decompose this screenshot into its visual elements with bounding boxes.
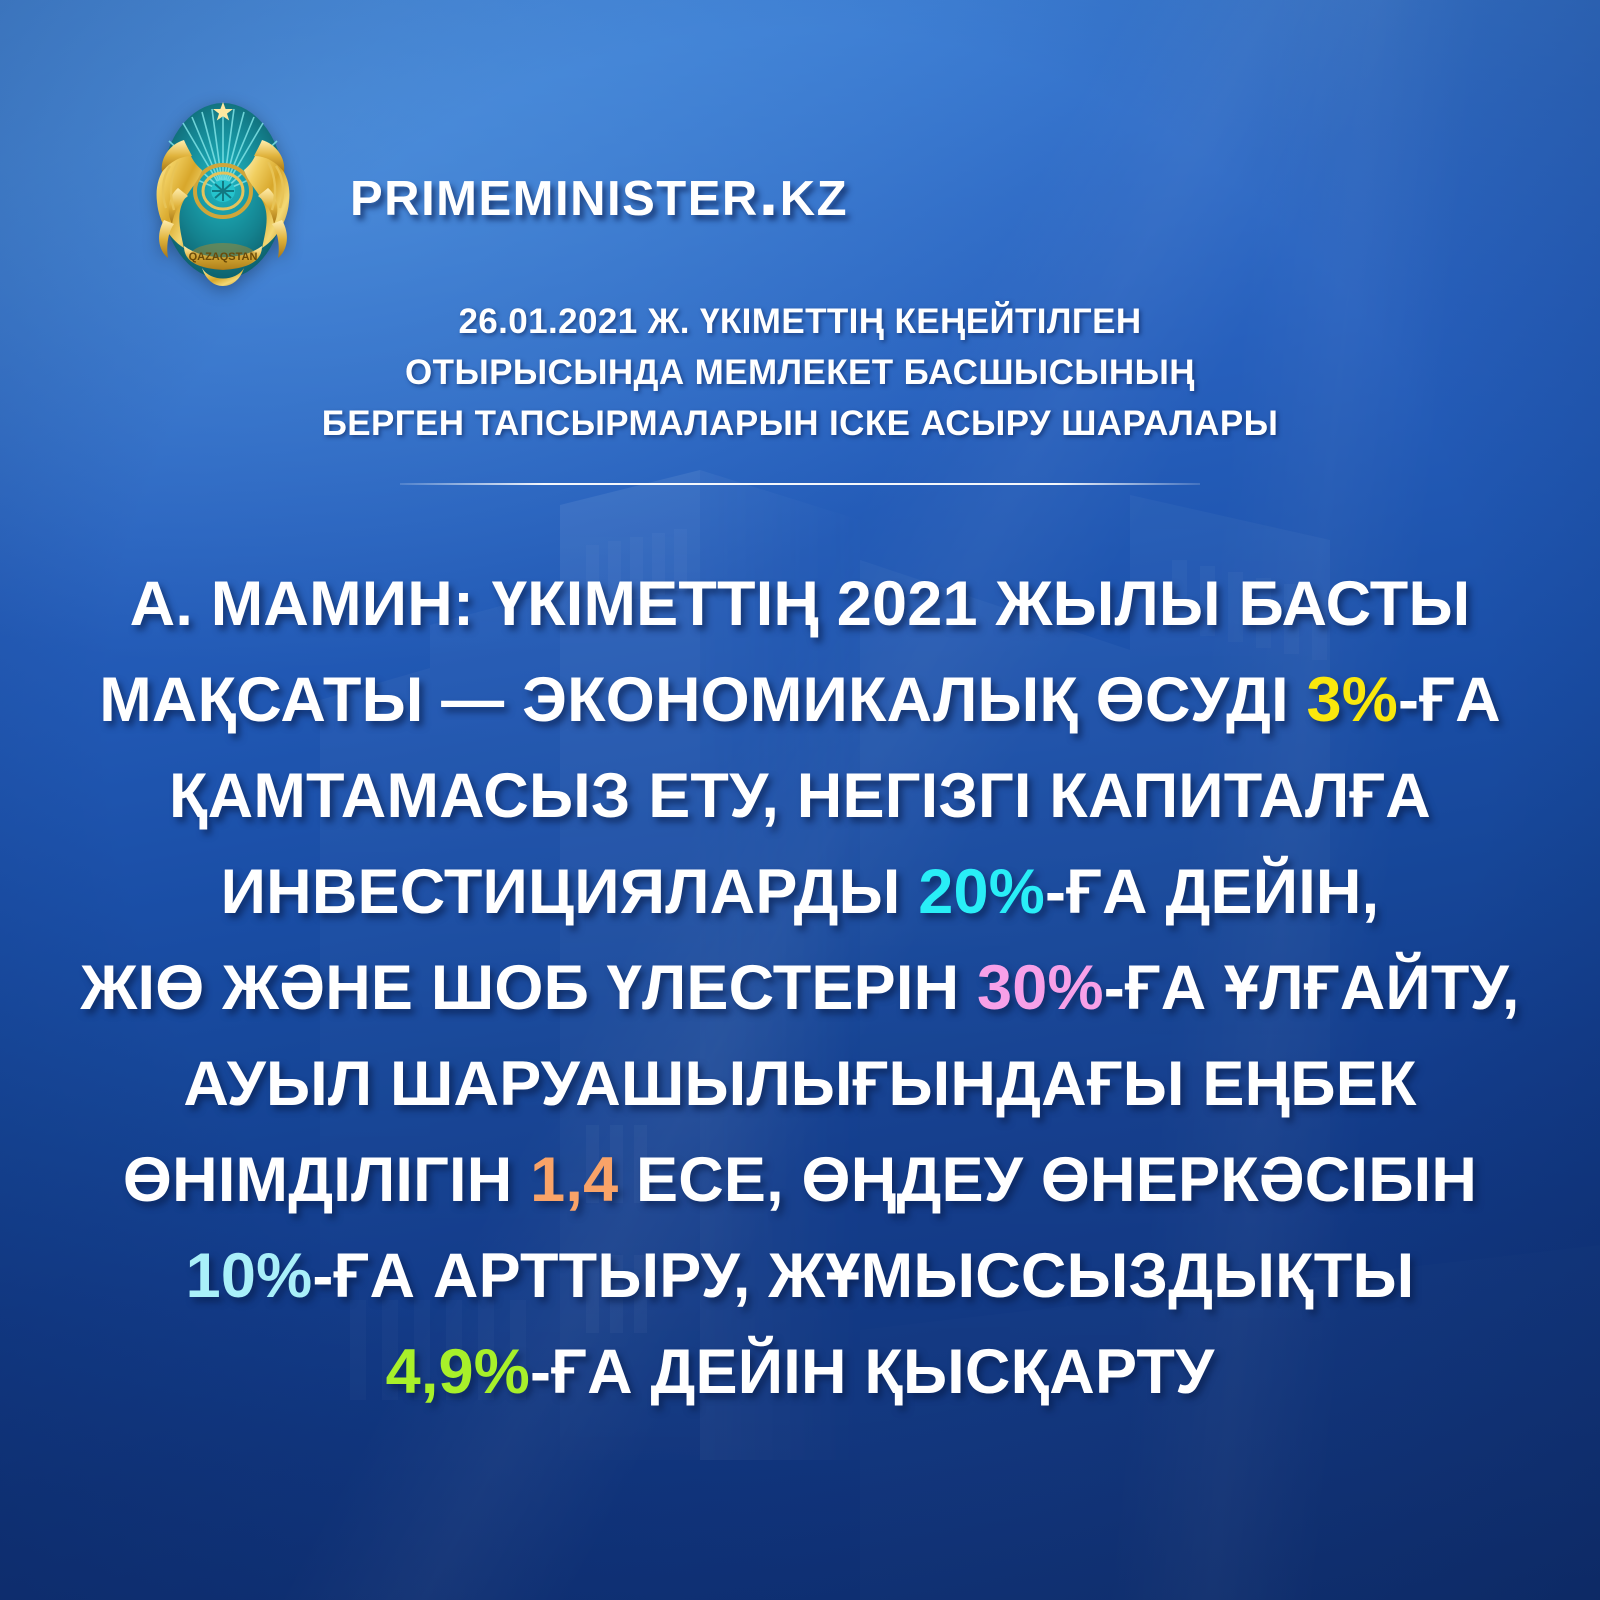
emblem-motto-text: QAZAQSTAN [189,251,258,263]
headline-line-4-prefix: ИНВЕСТИЦИЯЛАРДЫ [221,857,919,927]
subtitle-line-1: 26.01.2021 Ж. ҮКІМЕТТІҢ КЕҢЕЙТІЛГЕН [0,296,1600,347]
headline-line-5-prefix: ЖІӨ ЖӘНЕ ШОБ ҮЛЕСТЕРІН [80,953,977,1023]
header-divider [400,483,1200,485]
site-wordmark[interactable]: PrimeMinister.KZ [350,151,848,231]
subtitle-line-2: ОТЫРЫСЫНДА МЕМЛЕКЕТ БАСШЫСЫНЫҢ [0,347,1600,398]
metric-economic-growth: 3% [1307,665,1398,735]
headline-line-1: А. МАМИН: ҮКІМЕТТІҢ 2021 ЖЫЛЫ БАСТЫ [0,556,1600,652]
headline-line-8-suffix: -ҒА АРТТЫРУ, ЖҰМЫССЫЗДЫҚТЫ [312,1241,1414,1311]
metric-unemployment-target: 4,9% [386,1337,530,1407]
headline-line-2-suffix: -ҒА [1398,665,1501,735]
metric-manufacturing-growth: 10% [186,1241,313,1311]
headline-line-4-suffix: -ҒА ДЕЙІН, [1045,857,1379,927]
poster-canvas: QAZAQSTAN PrimeMinister.KZ 26.01.2021 Ж.… [0,0,1600,1600]
headline-line-6: АУЫЛ ШАРУАШЫЛЫҒЫНДАҒЫ ЕҢБЕК [0,1036,1600,1132]
metric-fixed-capital-investment: 20% [918,857,1045,927]
headline-line-3: ҚАМТАМАСЫЗ ЕТУ, НЕГІЗГІ КАПИТАЛҒА [0,748,1600,844]
headline-line-2: МАҚСАТЫ — ЭКОНОМИКАЛЫҚ ӨСУДІ 3%-ҒА [0,652,1600,748]
headline-line-4: ИНВЕСТИЦИЯЛАРДЫ 20%-ҒА ДЕЙІН, [0,844,1600,940]
headline-line-7-prefix: ӨНІМДІЛІГІН [123,1145,530,1215]
headline-statement: А. МАМИН: ҮКІМЕТТІҢ 2021 ЖЫЛЫ БАСТЫ МАҚС… [0,556,1600,1420]
headline-line-8: 10%-ҒА АРТТЫРУ, ЖҰМЫССЫЗДЫҚТЫ [0,1228,1600,1324]
headline-line-5: ЖІӨ ЖӘНЕ ШОБ ҮЛЕСТЕРІН 30%-ҒА ҰЛҒАЙТУ, [0,940,1600,1036]
metric-agri-labor-productivity: 1,4 [530,1145,618,1215]
headline-line-2-prefix: МАҚСАТЫ — ЭКОНОМИКАЛЫҚ ӨСУДІ [99,665,1306,735]
headline-line-7: ӨНІМДІЛІГІН 1,4 ЕСЕ, ӨҢДЕУ ӨНЕРКӘСІБІН [0,1132,1600,1228]
kazakhstan-emblem-icon: QAZAQSTAN [140,96,306,286]
metric-sme-share: 30% [977,953,1104,1023]
subtitle-line-3: БЕРГЕН ТАПСЫРМАЛАРЫН ІСКЕ АСЫРУ ШАРАЛАРЫ [0,398,1600,449]
headline-line-9: 4,9%-ҒА ДЕЙІН ҚЫСҚАРТУ [0,1324,1600,1420]
headline-line-9-suffix: -ҒА ДЕЙІН ҚЫСҚАРТУ [530,1337,1214,1407]
headline-line-5-suffix: -ҒА ҰЛҒАЙТУ, [1104,953,1520,1023]
headline-line-7-suffix: ЕСЕ, ӨҢДЕУ ӨНЕРКӘСІБІН [618,1145,1477,1215]
brand-header: QAZAQSTAN PrimeMinister.KZ [140,96,848,286]
event-subtitle: 26.01.2021 Ж. ҮКІМЕТТІҢ КЕҢЕЙТІЛГЕН ОТЫР… [0,296,1600,449]
